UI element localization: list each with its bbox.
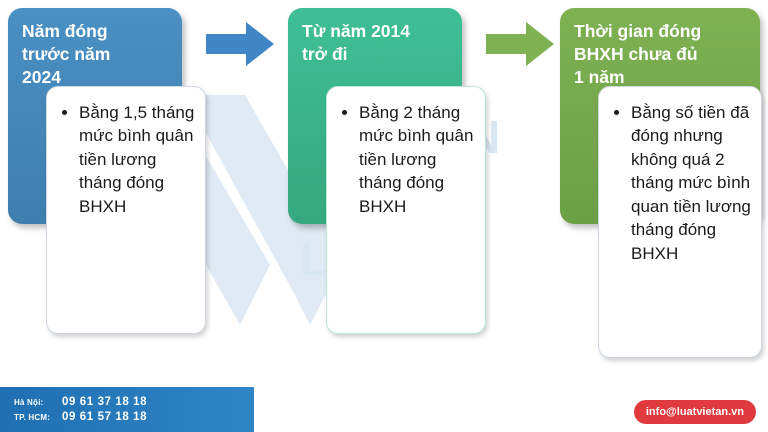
card-1-bullet-1: Bằng 1,5 tháng mức bình quân tiền lương … xyxy=(79,101,195,218)
slide-canvas: VIETAN LAW Năm đóng trước năm 2024 Bằng … xyxy=(0,0,768,432)
footer-contact-hcm: TP. HCM: 09 61 57 18 18 xyxy=(14,410,254,424)
card-2-bullet-1: Bằng 2 tháng mức bình quân tiền lương th… xyxy=(359,101,475,218)
footer-contact-hanoi: Hà Nội: 09 61 37 18 18 xyxy=(14,395,254,409)
card-2-body: Bằng 2 tháng mức bình quân tiền lương th… xyxy=(326,86,486,334)
footer-label-hcm: TP. HCM: xyxy=(14,413,62,423)
card-3-bullet-1: Bằng số tiền đã đóng nhưng không quá 2 t… xyxy=(631,101,751,265)
footer-phone-hcm: 09 61 57 18 18 xyxy=(62,410,147,424)
footer-contact-bar: Hà Nội: 09 61 37 18 18 TP. HCM: 09 61 57… xyxy=(0,387,254,432)
card-3-heading: Thời gian đóng BHXH chưa đủ 1 năm xyxy=(560,8,760,98)
card-3-body: Bằng số tiền đã đóng nhưng không quá 2 t… xyxy=(598,86,762,358)
card-1-body: Bằng 1,5 tháng mức bình quân tiền lương … xyxy=(46,86,206,334)
card-2-heading: Từ năm 2014 trở đi xyxy=(288,8,462,76)
card-1-heading: Năm đóng trước năm 2024 xyxy=(8,8,182,98)
footer-email-badge[interactable]: info@luatvietan.vn xyxy=(634,400,756,424)
footer-phone-hanoi: 09 61 37 18 18 xyxy=(62,395,147,409)
footer-label-hanoi: Hà Nội: xyxy=(14,398,62,408)
arrow-1-icon xyxy=(206,22,276,66)
arrow-2-icon xyxy=(486,22,556,66)
